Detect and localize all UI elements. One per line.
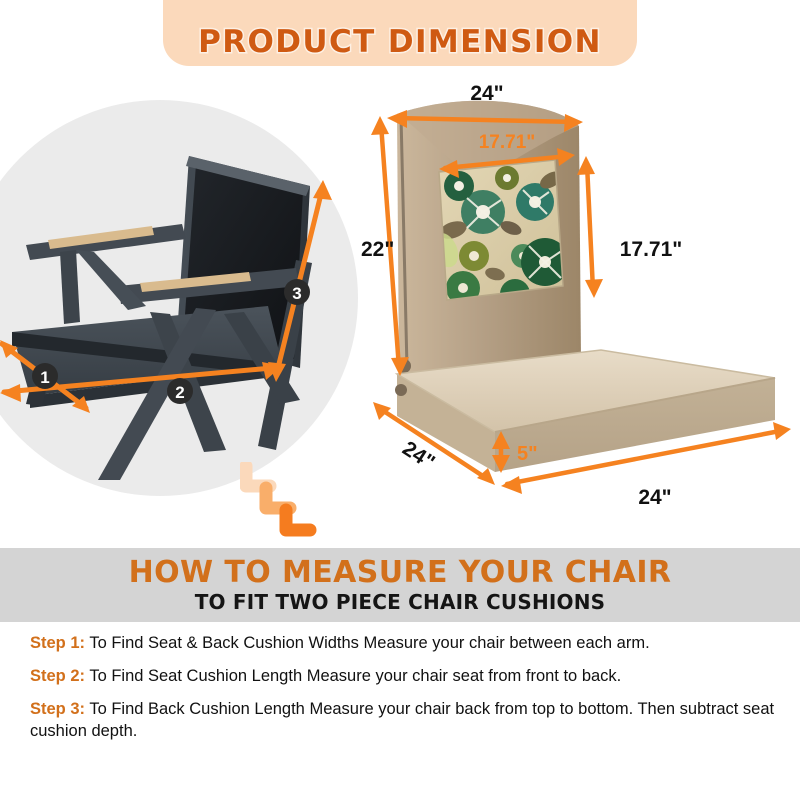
how-to-subheading: TO FIT TWO PIECE CHAIR CUSHIONS <box>195 592 606 613</box>
chevron-svg <box>240 462 350 552</box>
throw-pillow <box>427 160 569 309</box>
step-item-3: Step 3: To Find Back Cushion Length Meas… <box>30 698 800 742</box>
step-3-label: Step 3: <box>30 700 85 718</box>
step-item-1: Step 1: To Find Seat & Back Cushion Widt… <box>30 632 800 654</box>
page-title: PRODUCT DIMENSION <box>198 24 602 60</box>
step-2-label: Step 2: <box>30 667 85 685</box>
dim-seat-width-front: 24" <box>638 486 671 509</box>
step-1-text: To Find Seat & Back Cushion Widths Measu… <box>89 634 649 652</box>
step-item-2: Step 2: To Find Seat Cushion Length Meas… <box>30 665 800 687</box>
chair-arm-strut-diag <box>76 250 146 310</box>
chair-badge-1: 1 <box>32 363 58 389</box>
chevron-icon-3 <box>286 510 310 530</box>
infographic-page: PRODUCT DIMENSION <box>0 0 800 800</box>
badge-2-label: 2 <box>175 383 184 402</box>
chair-svg: 1 2 3 <box>0 100 360 480</box>
dim-seat-thickness: 5" <box>517 443 538 465</box>
chair-badge-2: 2 <box>167 378 193 404</box>
chevron-group <box>240 462 350 552</box>
dim-back-height: 22" <box>361 238 394 261</box>
step-3-text: To Find Back Cushion Length Measure your… <box>30 700 774 740</box>
cushion-illustration: 24" 17.71" 22" 17.71" 5" 24" 24" <box>355 60 800 540</box>
chair-badge-3: 3 <box>284 279 310 305</box>
dim-pillow-height: 17.71" <box>620 238 683 261</box>
how-to-heading: HOW TO MEASURE YOUR CHAIR <box>129 557 672 588</box>
steps-list: Step 1: To Find Seat & Back Cushion Widt… <box>0 632 800 753</box>
badge-1-label: 1 <box>40 368 49 387</box>
badge-3-label: 3 <box>292 284 301 303</box>
how-to-measure-band: HOW TO MEASURE YOUR CHAIR TO FIT TWO PIE… <box>0 548 800 622</box>
chair-arm-strut-left <box>60 250 80 324</box>
step-2-text: To Find Seat Cushion Length Measure your… <box>89 667 621 685</box>
dim-back-width-top: 24" <box>470 82 503 105</box>
cushion-svg: 24" 17.71" 22" 17.71" 5" 24" 24" <box>355 60 800 540</box>
chair-illustration: 1 2 3 <box>0 100 360 480</box>
step-1-label: Step 1: <box>30 634 85 652</box>
dim-pillow-width: 17.71" <box>479 132 536 153</box>
product-dimension-banner: PRODUCT DIMENSION <box>163 0 637 66</box>
chair-arm-upper <box>26 224 186 260</box>
